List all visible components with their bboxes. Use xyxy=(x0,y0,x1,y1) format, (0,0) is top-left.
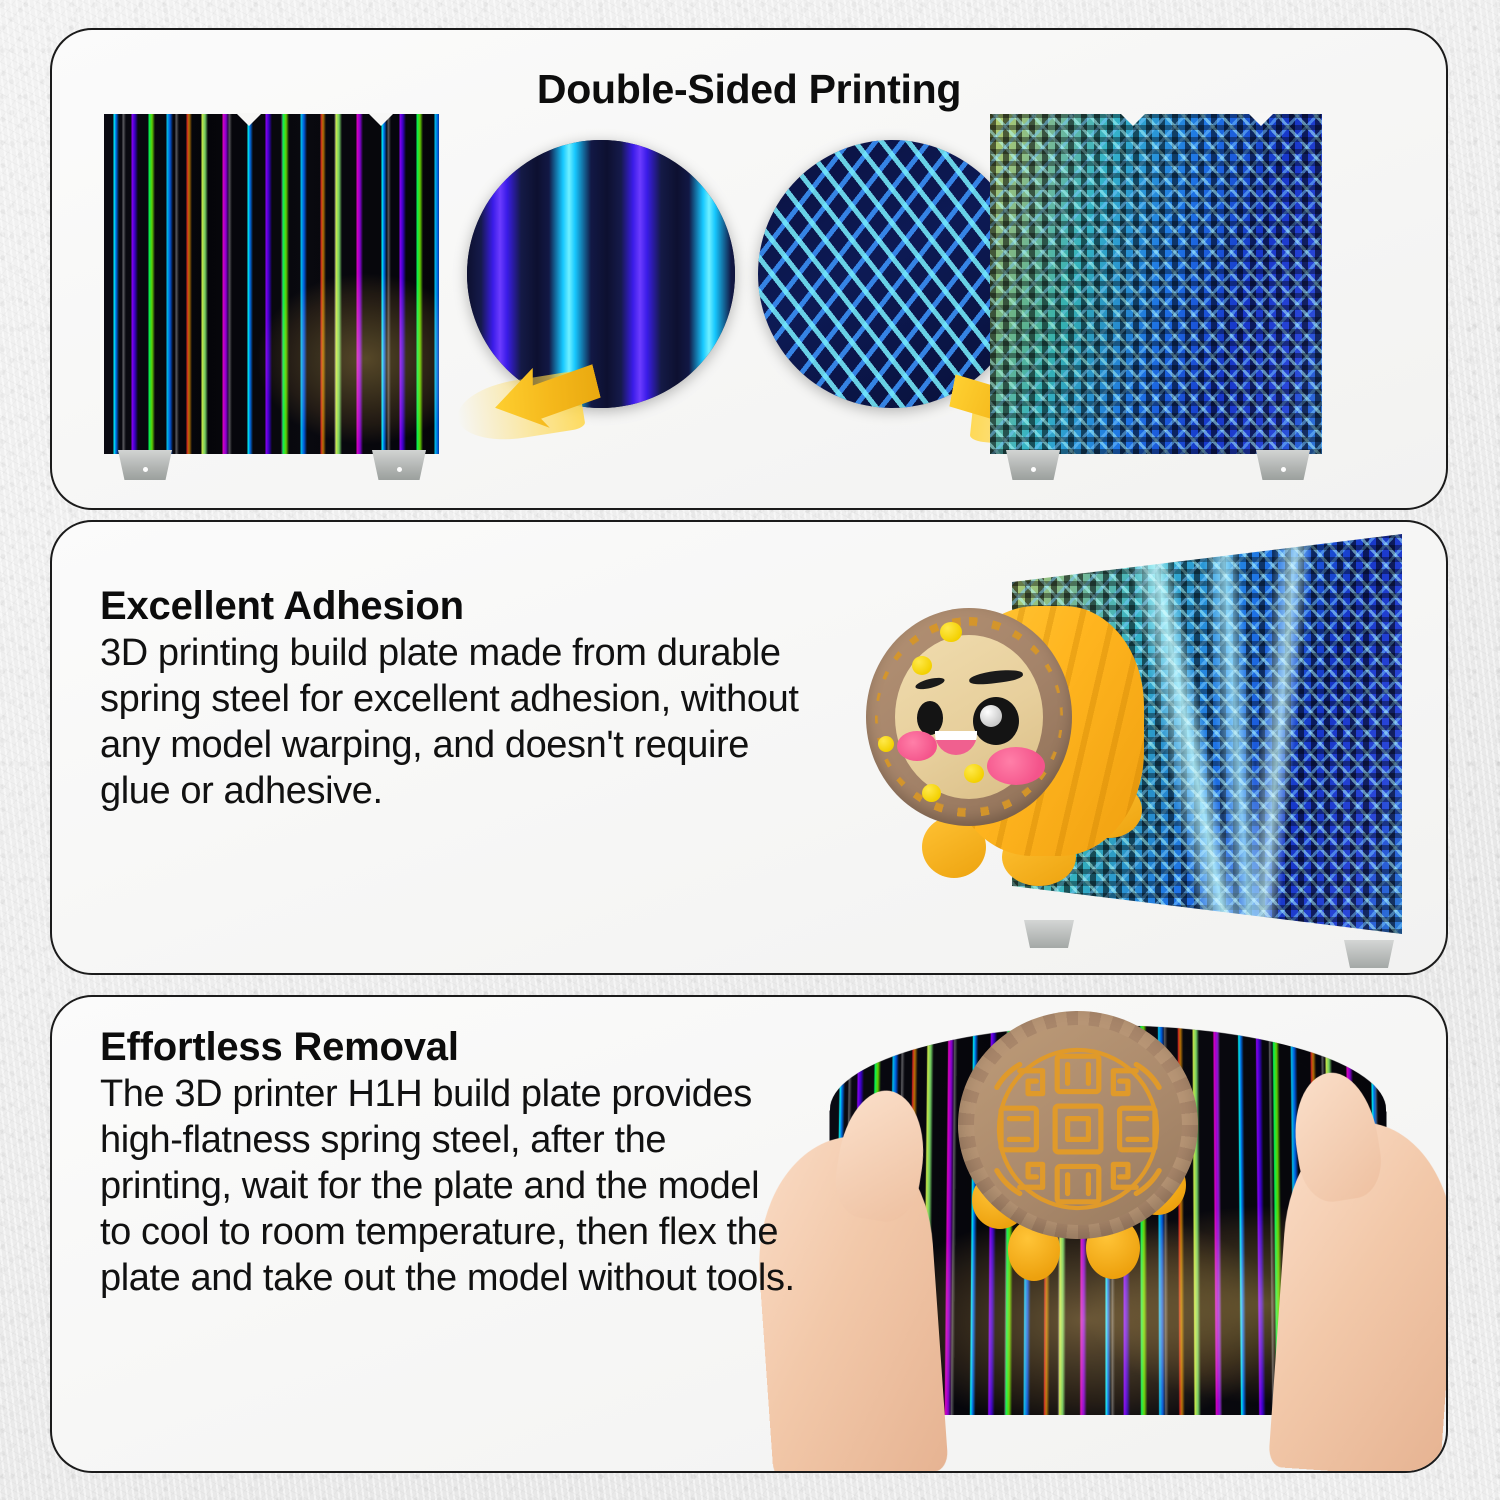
diamond-closeup-texture xyxy=(758,140,1026,408)
model-eye-left-winking xyxy=(917,701,943,735)
mooncake-disc-model xyxy=(948,1005,1204,1291)
model-cheek-left xyxy=(897,731,937,761)
plate-mount-tab-left xyxy=(118,450,172,480)
model-mouth xyxy=(935,731,977,755)
diamond-grid-texture xyxy=(990,114,1322,454)
plate-surface xyxy=(990,114,1322,454)
removal-illustration xyxy=(752,997,1448,1473)
removal-heading: Effortless Removal xyxy=(100,1025,800,1070)
holographic-diamond-build-plate xyxy=(990,114,1322,454)
model-disc-face xyxy=(974,1025,1182,1225)
holographic-stripe-build-plate xyxy=(104,114,439,454)
model-eyebrow-right xyxy=(968,668,1023,686)
diamond-texture-closeup xyxy=(758,140,1026,408)
page-title: Double-Sided Printing xyxy=(52,66,1446,113)
stripe-texture xyxy=(104,114,439,454)
plate-mount-tab-left xyxy=(1024,920,1074,948)
plate-mount-tab-right xyxy=(1344,940,1394,968)
model-eye-right xyxy=(973,697,1019,745)
model-decoration-dot xyxy=(964,764,984,783)
adhesion-heading: Excellent Adhesion xyxy=(100,584,800,629)
mooncake-pattern-icon xyxy=(974,1025,1182,1233)
adhesion-illustration xyxy=(812,522,1448,975)
infographic-page: Double-Sided Printing xyxy=(0,0,1500,1500)
model-decoration-dot xyxy=(912,656,932,675)
model-eyebrow-left xyxy=(914,676,945,692)
model-decoration-dot xyxy=(940,622,962,642)
adhesion-text-block: Excellent Adhesion 3D printing build pla… xyxy=(100,584,800,815)
model-scalloped-edge xyxy=(958,1011,1198,1239)
stripe-closeup-texture xyxy=(467,140,735,408)
adhesion-body-text: 3D printing build plate made from durabl… xyxy=(100,631,800,815)
removal-text-block: Effortless Removal The 3D printer H1H bu… xyxy=(100,1025,800,1302)
plate-mount-tab-left xyxy=(1006,450,1060,480)
stripe-texture-closeup xyxy=(467,140,735,408)
panel-excellent-adhesion: Excellent Adhesion 3D printing build pla… xyxy=(50,520,1448,975)
model-decoration-dot xyxy=(878,736,894,752)
panel-effortless-removal: Effortless Removal The 3D printer H1H bu… xyxy=(50,995,1448,1473)
mooncake-character-model xyxy=(852,584,1172,904)
panel-double-sided-printing: Double-Sided Printing xyxy=(50,28,1448,510)
removal-body-text: The 3D printer H1H build plate provides … xyxy=(100,1072,800,1302)
plate-mount-tab-right xyxy=(1256,450,1310,480)
plate-mount-tab-right xyxy=(372,450,426,480)
plate-surface xyxy=(104,114,439,454)
model-decoration-dot xyxy=(922,784,941,802)
model-face-rim xyxy=(866,608,1072,826)
model-cheek-right xyxy=(987,747,1045,785)
